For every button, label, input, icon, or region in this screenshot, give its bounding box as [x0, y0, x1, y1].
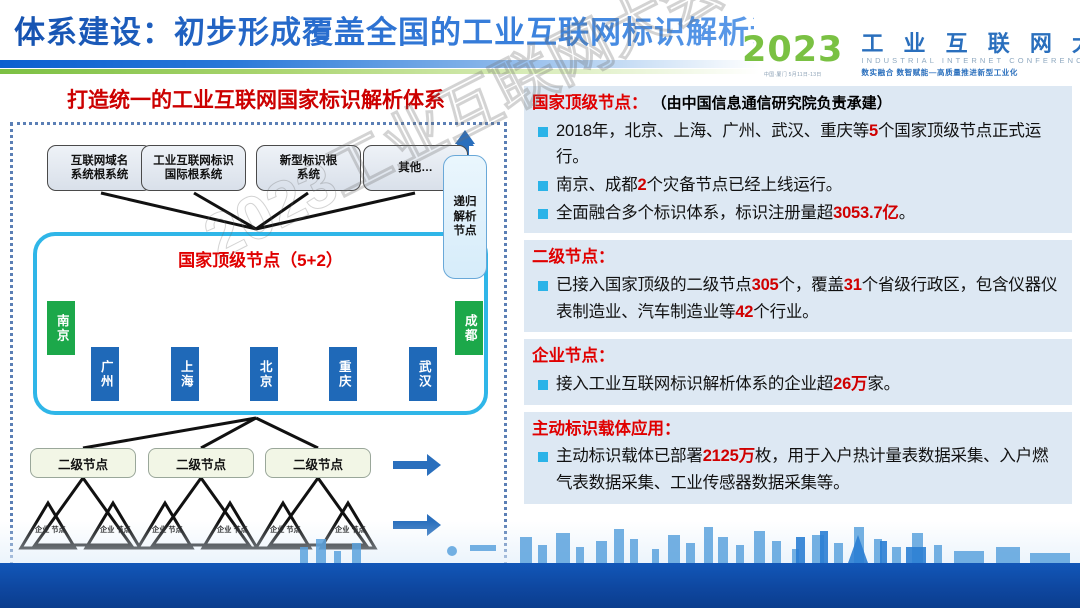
root-box-internet-dns: 互联网域名 系统根系统 [47, 145, 152, 191]
text-run: 家。 [867, 375, 900, 393]
city-node-beijing: 北京 [250, 347, 278, 401]
slide-root: 体系建设：初步形成覆盖全国的工业互联网标识解析设施 2023 中国·厦门 5月1… [0, 0, 1080, 608]
footer-band [0, 563, 1080, 608]
page-title: 体系建设：初步形成覆盖全国的工业互联网标识解析设施 [14, 12, 754, 54]
architecture-diagram: 互联网域名 系统根系统 工业互联网标识 国际根系统 新型标识根 系统 其他… 国… [10, 122, 507, 566]
fact-bullet-text: 2018年，北京、上海、广州、武汉、重庆等5个国家顶级节点正式运行。 [556, 118, 1064, 171]
city-node-shanghai: 上海 [171, 347, 199, 401]
root-box-label: 其他… [398, 161, 433, 175]
logo-text-block: 工 业 互 联 网 大 会 INDUSTRIAL INTERNET CONFER… [861, 32, 1080, 78]
conference-logo: 2023 中国·厦门 5月11日-13日 工 业 互 联 网 大 会 INDUS… [742, 30, 1072, 80]
square-bullet-icon [538, 281, 548, 291]
text-run: 个灾备节点已经上线运行。 [647, 176, 843, 194]
city-node-chengdu: 成都 [455, 301, 483, 355]
level2-node-box-3: 二级节点 [265, 448, 371, 478]
fact-bullet-text: 南京、成都2个灾备节点已经上线运行。 [556, 172, 842, 199]
logo-title-cn: 工 业 互 联 网 大 会 [861, 32, 1080, 55]
fact-section-heading: 主动标识载体应用： [532, 417, 1064, 443]
level2-label: 二级节点 [58, 454, 108, 473]
level2-label: 二级节点 [293, 454, 343, 473]
fact-section-heading: 企业节点： [532, 344, 1064, 370]
fact-bullet-text: 已接入国家顶级的二级节点305个，覆盖31个省级行政区，包含仪器仪表制造业、汽车… [556, 272, 1064, 325]
highlight-number: 3053.7亿 [833, 204, 899, 222]
facts-panel: 国家顶级节点： （由中国信息通信研究院负责承建）2018年，北京、上海、广州、武… [524, 86, 1072, 568]
text-run: 已接入国家顶级的二级节点 [556, 276, 752, 294]
city-label: 广州 [98, 360, 112, 389]
highlight-number: 2 [638, 176, 647, 194]
national-top-node-title: 国家顶级节点（5+2） [37, 246, 484, 271]
fact-section-heading: 国家顶级节点： （由中国信息通信研究院负责承建） [532, 91, 1064, 117]
city-node-wuhan: 武汉 [409, 347, 437, 401]
fact-section: 二级节点：已接入国家顶级的二级节点305个，覆盖31个省级行政区，包含仪器仪表制… [524, 240, 1072, 332]
fact-bullet-row: 南京、成都2个灾备节点已经上线运行。 [532, 172, 1064, 199]
fact-bullet-row: 已接入国家顶级的二级节点305个，覆盖31个省级行政区，包含仪器仪表制造业、汽车… [532, 272, 1064, 325]
root-box-label: 工业互联网标识 国际根系统 [153, 154, 234, 183]
highlight-number: 2125万 [703, 447, 755, 465]
root-box-label: 互联网域名 系统根系统 [71, 154, 129, 183]
logo-year: 2023 [742, 33, 843, 68]
fact-section-heading: 二级节点： [532, 245, 1064, 271]
diagram-title: 打造统一的工业互联网国家标识解析体系 [36, 88, 476, 114]
highlight-number: 5 [869, 122, 878, 140]
text-run: 全面融合多个标识体系，标识注册量超 [556, 204, 833, 222]
level2-node-box-2: 二级节点 [148, 448, 254, 478]
logo-slogan: 数实融合 数智赋能—高质量推进新型工业化 [861, 67, 1080, 78]
recursive-resolve-label: 递归 解析 节点 [454, 195, 477, 240]
fact-section: 主动标识载体应用：主动标识载体已部署2125万枚，用于入户热计量表数据采集、入户… [524, 412, 1072, 504]
highlight-number: 305 [752, 276, 779, 294]
root-box-iiot-intl-root: 工业互联网标识 国际根系统 [141, 145, 246, 191]
city-node-guangzhou: 广州 [91, 347, 119, 401]
text-run: 个，覆盖 [779, 276, 844, 294]
city-node-nanjing: 南京 [47, 301, 75, 355]
fact-bullet-row: 全面融合多个标识体系，标识注册量超3053.7亿。 [532, 200, 1064, 227]
text-run: 2018年，北京、上海、广州、武汉、重庆等 [556, 122, 869, 140]
fact-bullet-text: 主动标识载体已部署2125万枚，用于入户热计量表数据采集、入户燃气表数据采集、工… [556, 443, 1064, 496]
root-box-new-identifier-root: 新型标识根 系统 [256, 145, 361, 191]
square-bullet-icon [538, 452, 548, 462]
fact-section: 企业节点：接入工业互联网标识解析体系的企业超26万家。 [524, 339, 1072, 404]
city-label: 上海 [178, 360, 192, 389]
highlight-number: 26万 [833, 375, 867, 393]
logo-year-subtitle: 中国·厦门 5月11日-13日 [764, 71, 822, 78]
recursive-resolve-node-box: 递归 解析 节点 [443, 155, 487, 279]
text-run: 接入工业互联网标识解析体系的企业超 [556, 375, 833, 393]
fact-bullet-row: 2018年，北京、上海、广州、武汉、重庆等5个国家顶级节点正式运行。 [532, 118, 1064, 171]
city-node-chongqing: 重庆 [329, 347, 357, 401]
text-run: 。 [899, 204, 915, 222]
fact-bullet-text: 全面融合多个标识体系，标识注册量超3053.7亿。 [556, 200, 915, 227]
city-label: 武汉 [416, 360, 430, 389]
fact-section: 国家顶级节点： （由中国信息通信研究院负责承建）2018年，北京、上海、广州、武… [524, 86, 1072, 233]
text-run: 南京、成都 [556, 176, 638, 194]
city-label: 重庆 [336, 360, 350, 389]
fact-bullet-row: 接入工业互联网标识解析体系的企业超26万家。 [532, 371, 1064, 398]
logo-title-en: INDUSTRIAL INTERNET CONFERENCE [861, 56, 1080, 65]
level2-label: 二级节点 [176, 454, 226, 473]
level2-node-box-1: 二级节点 [30, 448, 136, 478]
city-label: 成都 [462, 314, 476, 343]
skyline-icon [0, 521, 1080, 563]
city-label: 北京 [257, 360, 271, 389]
square-bullet-icon [538, 181, 548, 191]
footer-skyline-backdrop [0, 521, 1080, 563]
square-bullet-icon [538, 380, 548, 390]
highlight-number: 31 [844, 276, 862, 294]
root-box-label: 新型标识根 系统 [280, 154, 338, 183]
header-green-rule [0, 69, 760, 74]
text-run: 主动标识载体已部署 [556, 447, 703, 465]
square-bullet-icon [538, 209, 548, 219]
logo-year-block: 2023 中国·厦门 5月11日-13日 [742, 33, 852, 78]
fact-bullet-row: 主动标识载体已部署2125万枚，用于入户热计量表数据采集、入户燃气表数据采集、工… [532, 443, 1064, 496]
fact-bullet-text: 接入工业互联网标识解析体系的企业超26万家。 [556, 371, 900, 398]
highlight-number: 42 [735, 303, 753, 321]
square-bullet-icon [538, 127, 548, 137]
header-blue-rule [0, 60, 760, 68]
text-run: 个行业。 [753, 303, 818, 321]
fact-section-heading-note: （由中国信息通信研究院负责承建） [648, 95, 892, 112]
city-label: 南京 [54, 314, 68, 343]
